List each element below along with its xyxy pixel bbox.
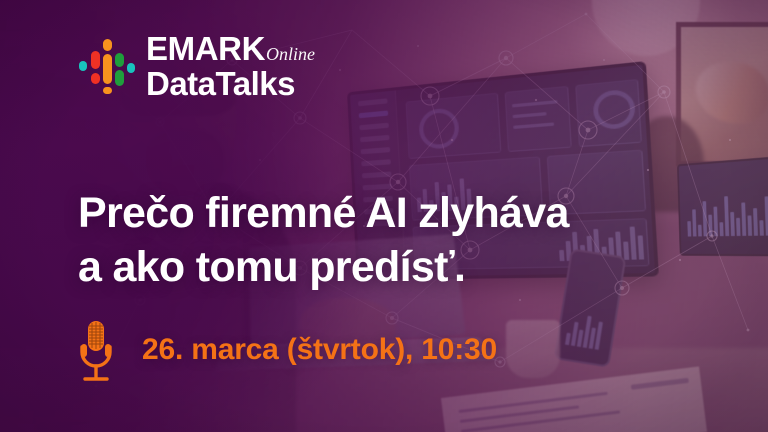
emark-logo[interactable]: EMARK Online DataTalks — [78, 32, 315, 100]
microphone-icon — [72, 318, 120, 382]
event-datetime-row: 26. marca (štvrtok), 10:30 — [72, 318, 497, 382]
logo-wordmark: EMARK Online DataTalks — [146, 32, 315, 100]
headline-line-1: Prečo firemné AI zlyháva — [78, 186, 718, 240]
logo-qualifier-text: Online — [266, 45, 315, 63]
headline: Prečo firemné AI zlyháva a ako tomu pred… — [78, 186, 718, 294]
emark-equalizer-mark-icon — [78, 37, 136, 95]
webinar-banner: EMARK Online DataTalks Prečo firemné AI … — [0, 0, 768, 432]
logo-line-one: EMARK Online — [146, 32, 315, 65]
logo-product-text: DataTalks — [146, 67, 315, 100]
event-date-text: 26. marca (štvrtok), 10:30 — [142, 333, 497, 367]
headline-line-2: a ako tomu predísť. — [78, 240, 718, 294]
logo-brand-text: EMARK — [146, 32, 265, 65]
